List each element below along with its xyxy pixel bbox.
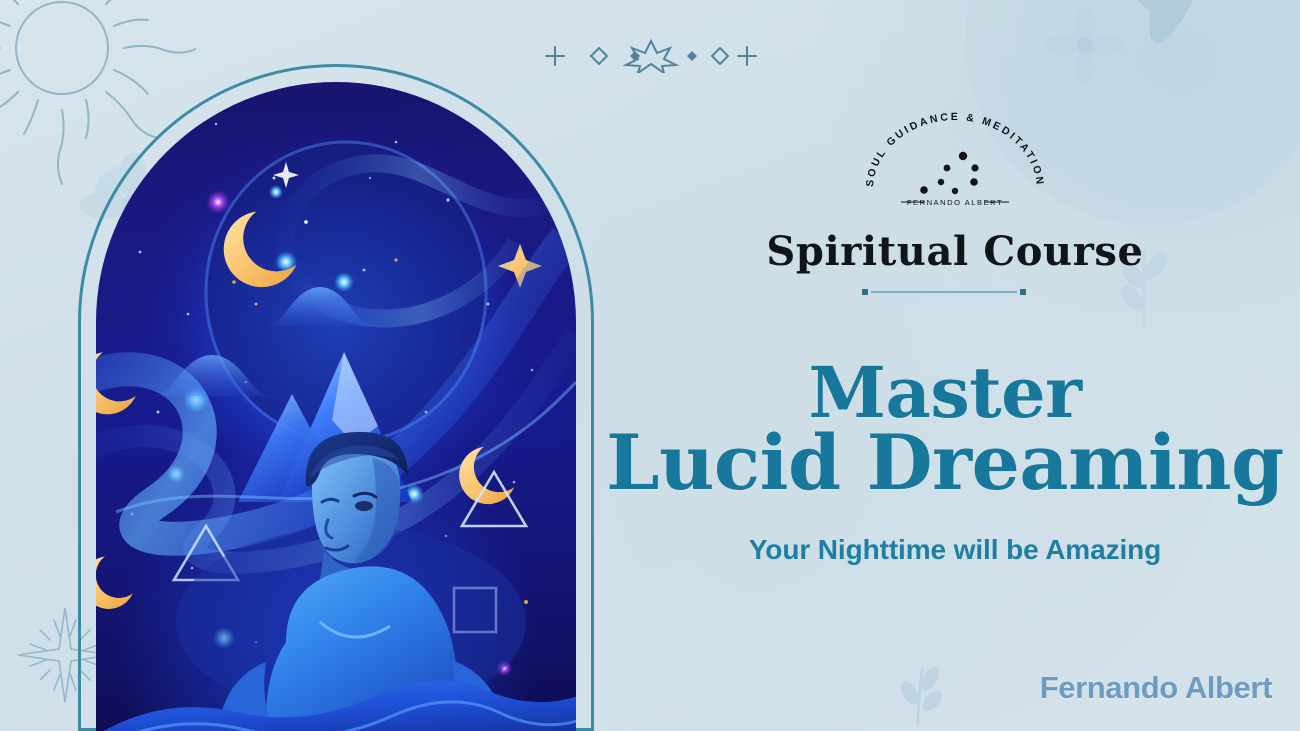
logo-arc-text: SOUL GUIDANCE & MEDITATION [864,112,1046,188]
svg-text:SOUL GUIDANCE & MEDITATION: SOUL GUIDANCE & MEDITATION [864,112,1046,188]
flower-icon [1045,5,1125,85]
small-diamond-icon [687,51,697,61]
headline-line-1: Master [590,360,1300,427]
poster-canvas: SOUL GUIDANCE & MEDITATION FERNANDO ALBE… [0,0,1300,731]
constellation-dots [920,152,978,194]
headline-line-2: Lucid Dreaming [590,427,1300,499]
author-signature: Fernando Albert [900,670,1290,706]
diamond-icon [712,48,728,64]
plus-icon [738,47,756,65]
soul-guidance-meditation-logo: SOUL GUIDANCE & MEDITATION FERNANDO ALBE… [855,112,1055,212]
diamond-icon [591,48,607,64]
logo-sub-text: FERNANDO ALBERT [907,198,1003,207]
divider-dot-right [1020,289,1026,295]
page-title: Master Lucid Dreaming [590,360,1300,499]
plus-icon [546,47,564,65]
lucid-dreaming-illustration [78,64,594,731]
page-title-eyebrow: Spiritual Course [660,228,1250,275]
arch-artwork [96,82,576,731]
crescent-moon-icon [96,556,133,609]
divider-dot-left [862,289,868,295]
title-divider [862,288,1026,296]
divider-bar [871,291,1017,293]
page-subtitle: Your Nighttime will be Amazing [620,534,1290,566]
